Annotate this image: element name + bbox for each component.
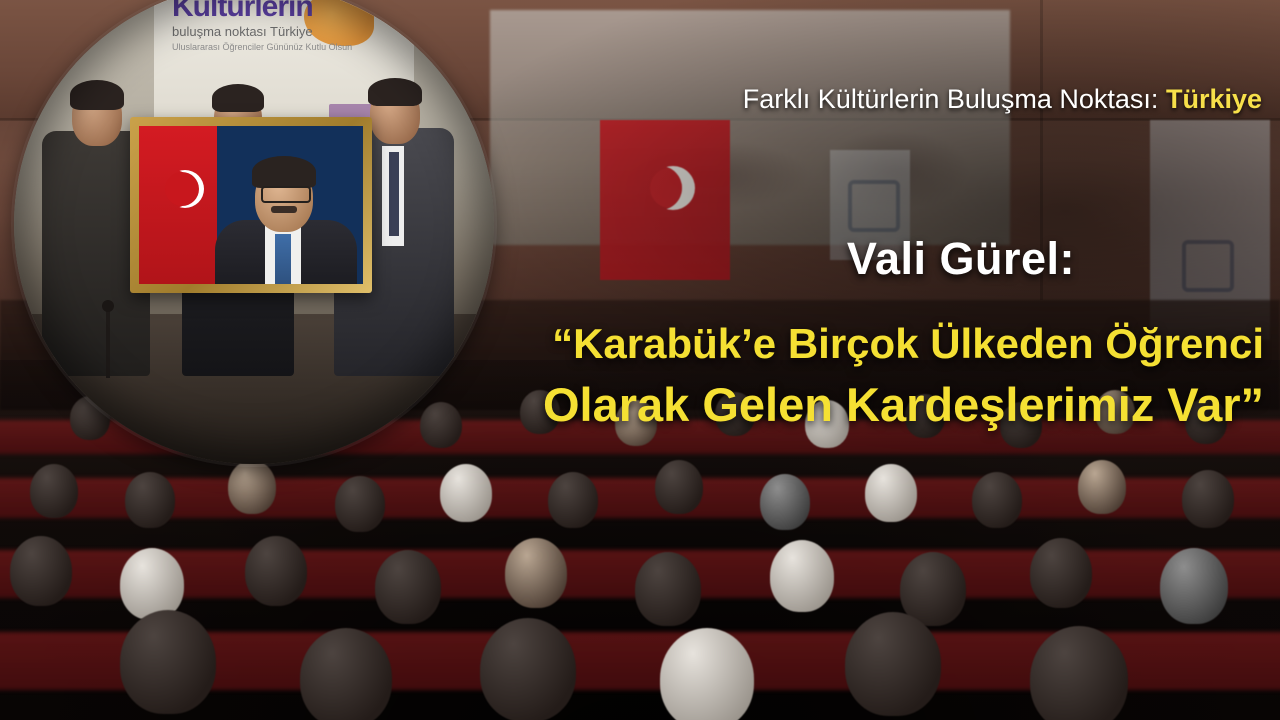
person-right-hair <box>368 78 422 106</box>
projection-screen <box>490 10 1010 245</box>
person-center-hair <box>212 84 264 112</box>
audience-head <box>245 536 307 606</box>
audience-head <box>505 538 567 608</box>
audience-head-foreground <box>300 628 392 720</box>
inset-banner-title: Kültürlerin <box>172 0 313 24</box>
portrait-subject <box>209 148 363 284</box>
kicker-accent: Türkiye <box>1166 84 1262 114</box>
portrait-canvas <box>139 126 363 284</box>
kicker-text: Farklı Kültürlerin Buluşma Noktası: Türk… <box>743 84 1262 115</box>
portrait-turkish-flag <box>139 126 217 284</box>
audience-head <box>228 460 276 514</box>
person-right-tie <box>389 152 399 236</box>
audience-head-foreground <box>480 618 576 720</box>
audience-head <box>30 464 78 518</box>
audience-head <box>972 472 1022 528</box>
glasses-icon <box>261 186 311 203</box>
headline-line-1: “Karabük’e Birçok Ülkeden Öğrenci <box>552 320 1264 368</box>
banner-graphic-icon <box>304 0 374 46</box>
audience-head-foreground <box>120 610 216 714</box>
portrait-hair <box>252 156 316 188</box>
attribution-text: Vali Gürel: <box>847 233 1075 285</box>
audience-head <box>760 474 810 530</box>
framed-portrait <box>130 117 372 293</box>
audience-head <box>10 536 72 606</box>
audience-head <box>1182 470 1234 528</box>
portrait-tie <box>275 234 291 284</box>
person-left-hair <box>70 80 124 110</box>
audience-head <box>440 464 492 522</box>
audience-head <box>655 460 703 514</box>
portrait-moustache <box>271 206 297 213</box>
crescent-star-icon-portrait <box>155 170 193 208</box>
audience-head <box>1078 460 1126 514</box>
banner-logo-icon <box>848 180 900 232</box>
audience-head <box>125 472 175 528</box>
flag-banner <box>600 120 730 280</box>
audience-head <box>548 472 598 528</box>
news-thumbnail-image: Kültürlerin buluşma noktası Türkiye Ulus… <box>0 0 1280 720</box>
kicker-prefix: Farklı Kültürlerin Buluşma Noktası: <box>743 84 1159 114</box>
audience-head <box>865 464 917 522</box>
audience-head <box>635 552 701 626</box>
audience-head <box>770 540 834 612</box>
inset-banner-small-text: Uluslararası Öğrenciler Gününüz Kutlu Ol… <box>172 42 352 52</box>
audience-head-foreground <box>845 612 941 716</box>
audience-head <box>1030 538 1092 608</box>
audience-head <box>1160 548 1228 624</box>
microphone-stand-icon <box>106 308 110 378</box>
audience-head-foreground <box>660 628 754 720</box>
banner-logo-icon-right <box>1182 240 1234 292</box>
audience-head <box>120 548 184 620</box>
audience-head <box>375 550 441 624</box>
inset-circular-photo: Kültürlerin buluşma noktası Türkiye Ulus… <box>14 0 494 464</box>
headline-line-2: Olarak Gelen Kardeşlerimiz Var” <box>543 377 1264 432</box>
audience-head <box>335 476 385 532</box>
inset-banner-subtitle: buluşma noktası Türkiye <box>172 24 313 39</box>
crescent-star-icon <box>638 166 682 210</box>
